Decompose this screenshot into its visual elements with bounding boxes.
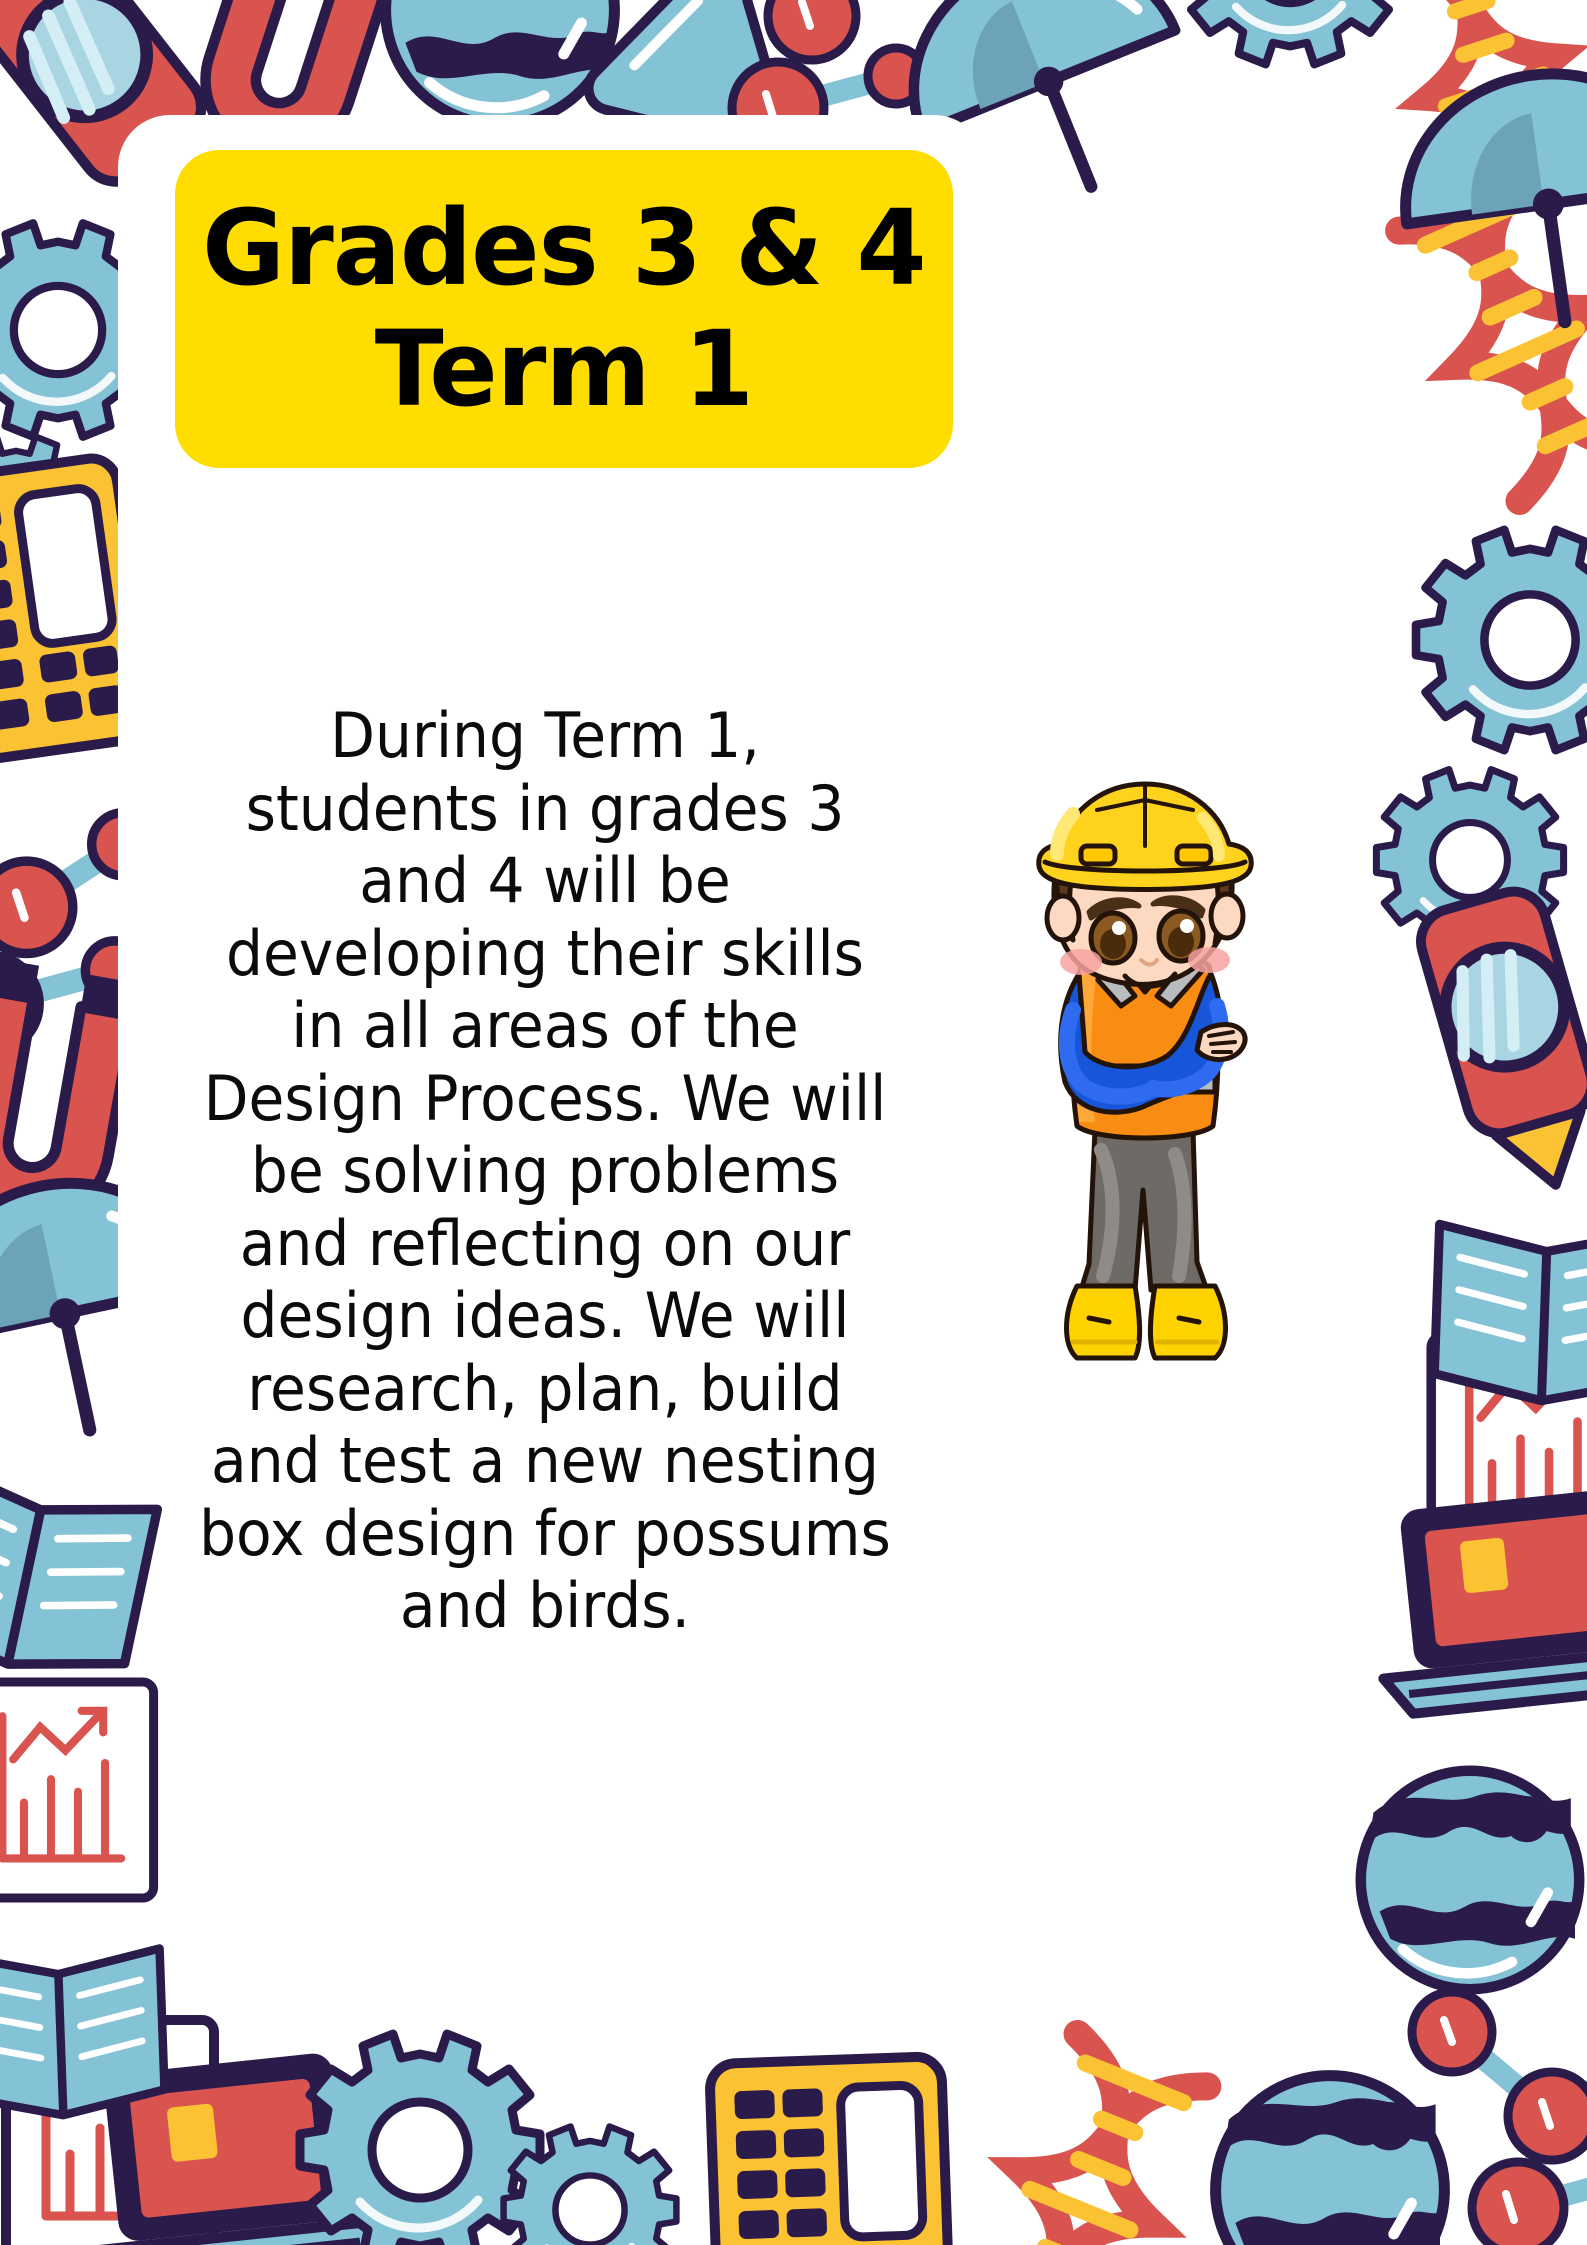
- poster-stage: Grades 3 & 4 Term 1 During Term 1, stude…: [0, 0, 1587, 2245]
- globe-icon: [1216, 2076, 1445, 2245]
- gear-icon: [1416, 530, 1587, 750]
- construction-worker-boy-illustration: [985, 770, 1315, 1390]
- calculator-icon: [680, 2032, 981, 2245]
- title-banner: Grades 3 & 4 Term 1: [175, 150, 953, 468]
- body-paragraph: During Term 1, students in grades 3 and …: [174, 700, 917, 1643]
- chart-icon: [0, 1682, 154, 1898]
- globe-icon: [1361, 1771, 1579, 1989]
- page-title: Grades 3 & 4 Term 1: [202, 188, 925, 429]
